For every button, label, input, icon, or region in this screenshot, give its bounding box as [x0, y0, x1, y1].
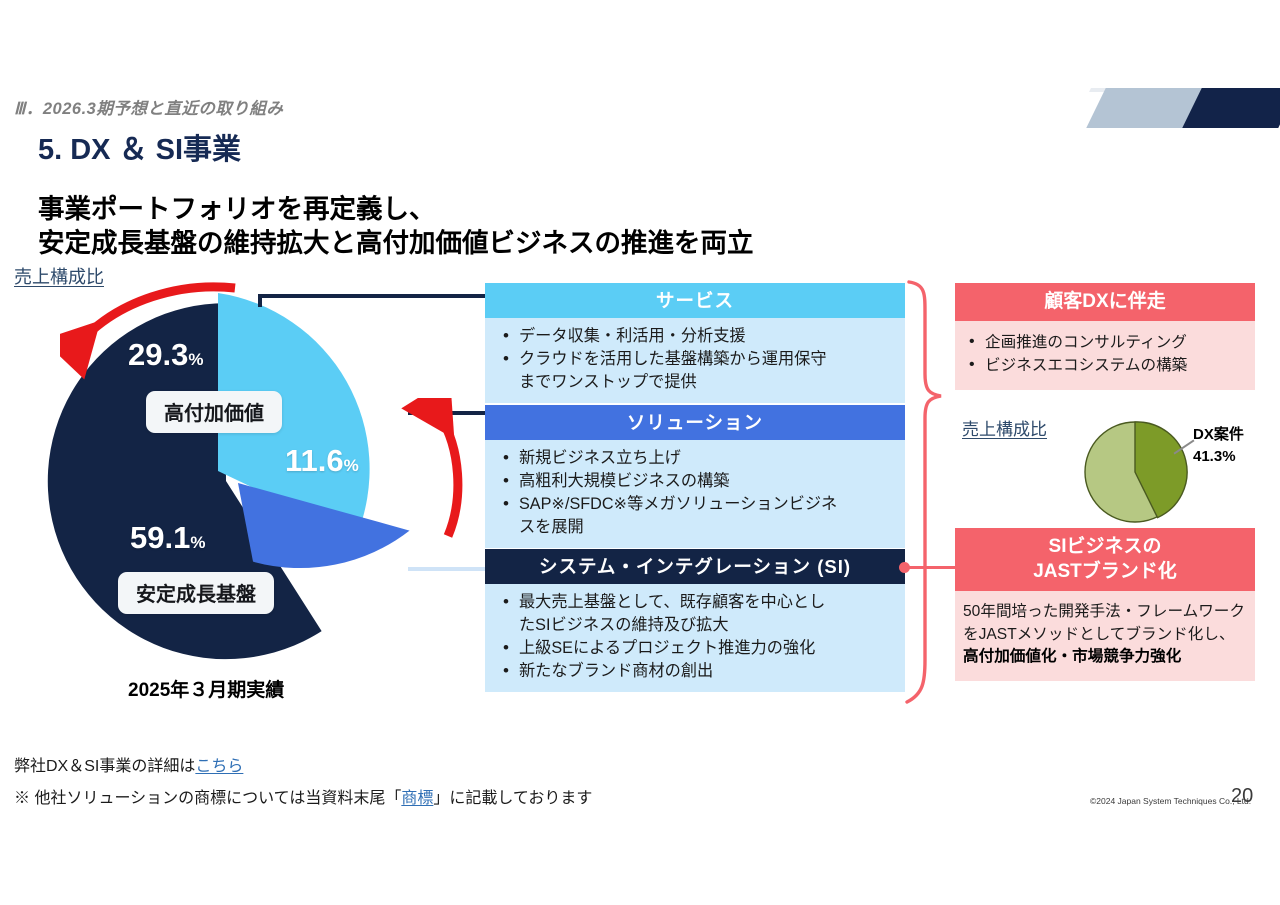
footer-line-2: ※ 他社ソリューションの商標については当資料末尾「商標」に記載しております: [14, 784, 592, 808]
pie-value-si-number: 59.1: [130, 520, 190, 555]
card-service-body: データ収集・利活用・分析支援 クラウドを活用した基盤構築から運用保守 までワンス…: [485, 318, 905, 403]
percent-symbol: %: [344, 456, 359, 475]
card-service[interactable]: サービス データ収集・利活用・分析支援 クラウドを活用した基盤構築から運用保守 …: [485, 283, 905, 403]
list-item: 新たなブランド商材の創出: [497, 660, 895, 683]
list-item: SAP※/SFDC※等メガソリューションビジネ: [497, 493, 895, 516]
pie-group-chip-high-value: 高付加価値: [146, 391, 282, 433]
panel-customer-dx-heading: 顧客DXに伴走: [955, 283, 1255, 321]
card-service-bullet-list: データ収集・利活用・分析支援 クラウドを活用した基盤構築から運用保守 までワンス…: [497, 325, 895, 394]
list-item: データ収集・利活用・分析支援: [497, 325, 895, 348]
card-si-body: 最大売上基盤として、既存顧客を中心とし たSIビジネスの維持及び拡大 上級SEに…: [485, 584, 905, 692]
section-kicker: Ⅲ．2026.3期予想と直近の取り組み: [14, 95, 283, 119]
subtitle-line-1: 事業ポートフォリオを再定義し、: [38, 192, 754, 226]
pie-value-solution-number: 11.6: [285, 443, 344, 478]
card-si-heading: システム・インテグレーション (SI): [485, 549, 905, 584]
panel-si-branding-heading-line-1: SIビジネスの: [955, 534, 1255, 559]
sales-ratio-label-right: 売上構成比: [962, 415, 1047, 440]
dx-share-pie-chart: [1082, 418, 1188, 524]
pie-caption: 2025年３月期実績: [128, 675, 284, 702]
pie-value-solution: 11.6%: [285, 443, 359, 479]
card-si-bullet-list: 最大売上基盤として、既存顧客を中心とし たSIビジネスの維持及び拡大 上級SEに…: [497, 591, 895, 683]
connector-si-horizontal: [408, 567, 488, 571]
page-number: 20: [1231, 785, 1253, 808]
growth-arrow-up-left-icon: [60, 280, 260, 390]
si-branding-text-plain: 50年間培った開発手法・フレームワークをJASTメソッドとしてブランド化し、: [963, 603, 1245, 643]
footer-line-2-prefix: ※ 他社ソリューションの商標については当資料末尾「: [14, 790, 401, 807]
page-subtitle: 事業ポートフォリオを再定義し、 安定成長基盤の維持拡大と高付加価値ビジネスの推進…: [38, 192, 754, 261]
card-solution-bullet-list: 新規ビジネス立ち上げ 高粗利大規模ビジネスの構築 SAP※/SFDC※等メガソリ…: [497, 447, 895, 539]
growth-arrow-up-icon: [398, 398, 488, 548]
panel-customer-dx-body: 企画推進のコンサルティング ビジネスエコシステムの構築: [955, 321, 1255, 390]
connector-service-horizontal: [258, 294, 488, 298]
footer-line-1: 弊社DX＆SI事業の詳細はこちら: [14, 752, 243, 776]
pie-group-chip-stable-growth: 安定成長基盤: [118, 572, 274, 614]
panel-customer-dx[interactable]: 顧客DXに伴走 企画推進のコンサルティング ビジネスエコシステムの構築: [955, 283, 1255, 390]
percent-symbol: %: [190, 533, 205, 552]
panel-si-branding-body: 50年間培った開発手法・フレームワークをJASTメソッドとしてブランド化し、高付…: [955, 591, 1255, 681]
footer-link-trademark[interactable]: 商標: [401, 790, 433, 807]
card-service-heading: サービス: [485, 283, 905, 318]
card-solution[interactable]: ソリューション 新規ビジネス立ち上げ 高粗利大規模ビジネスの構築 SAP※/SF…: [485, 405, 905, 548]
card-solution-heading: ソリューション: [485, 405, 905, 440]
list-item: 新規ビジネス立ち上げ: [497, 447, 895, 470]
list-item: クラウドを活用した基盤構築から運用保守: [497, 348, 895, 371]
footer-link-details[interactable]: こちら: [195, 758, 243, 775]
copyright-notice: ©2024 Japan System Techniques Co., Ltd.: [1090, 796, 1251, 806]
subtitle-line-2: 安定成長基盤の維持拡大と高付加価値ビジネスの推進を両立: [38, 226, 754, 260]
list-item-continuation: までワンストップで提供: [497, 371, 895, 394]
footer-line-2-suffix: 」に記載しております: [433, 790, 592, 807]
slide-canvas: Ⅲ．2026.3期予想と直近の取り組み 5. DX ＆ SI事業 事業ポートフォ…: [0, 0, 1280, 905]
footer-line-1-text: 弊社DX＆SI事業の詳細は: [14, 758, 195, 775]
dx-share-series-label: DX案件: [1193, 423, 1244, 444]
panel-customer-dx-bullet-list: 企画推進のコンサルティング ビジネスエコシステムの構築: [961, 331, 1247, 378]
list-item: 上級SEによるプロジェクト推進力の強化: [497, 637, 895, 660]
card-solution-body: 新規ビジネス立ち上げ 高粗利大規模ビジネスの構築 SAP※/SFDC※等メガソリ…: [485, 440, 905, 548]
grouping-brace-icon: [895, 278, 951, 708]
pie-value-si: 59.1%: [130, 520, 205, 556]
panel-si-branding-heading-line-2: JASTブランド化: [955, 559, 1255, 584]
list-item: ビジネスエコシステムの構築: [961, 354, 1247, 377]
page-title: 5. DX ＆ SI事業: [38, 126, 241, 168]
si-connector-line: [905, 566, 957, 569]
list-item-continuation: スを展開: [497, 516, 895, 539]
list-item-continuation: たSIビジネスの維持及び拡大: [497, 614, 895, 637]
panel-si-branding-heading: SIビジネスの JASTブランド化: [955, 528, 1255, 591]
panel-si-branding-text: 50年間培った開発手法・フレームワークをJASTメソッドとしてブランド化し、高付…: [961, 601, 1247, 669]
list-item: 企画推進のコンサルティング: [961, 331, 1247, 354]
si-branding-text-emphasis: 高付加価値化・市場競争力強化: [963, 648, 1181, 665]
dx-share-value-label: 41.3%: [1193, 448, 1236, 465]
list-item: 最大売上基盤として、既存顧客を中心とし: [497, 591, 895, 614]
card-system-integration[interactable]: システム・インテグレーション (SI) 最大売上基盤として、既存顧客を中心とし …: [485, 549, 905, 692]
list-item: 高粗利大規模ビジネスの構築: [497, 470, 895, 493]
panel-si-branding[interactable]: SIビジネスの JASTブランド化 50年間培った開発手法・フレームワークをJA…: [955, 528, 1255, 681]
